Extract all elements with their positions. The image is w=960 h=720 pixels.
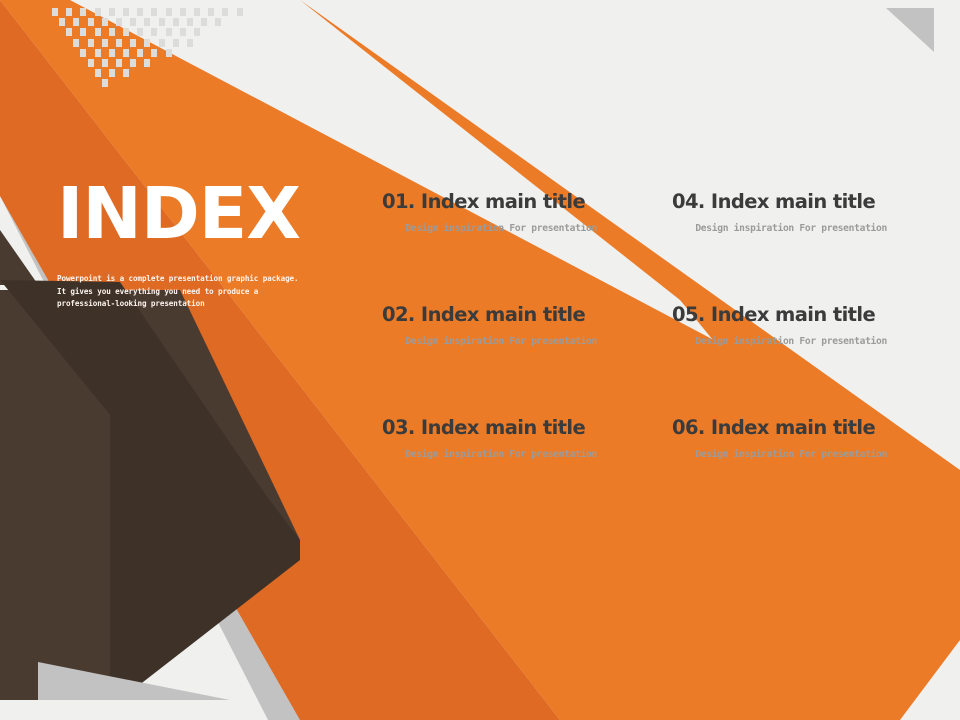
index-item-title: 03. Index main title <box>382 416 672 440</box>
dot-grid-cell <box>130 39 136 47</box>
dot-grid-cell <box>109 49 115 57</box>
index-item-title: 04. Index main title <box>672 190 912 214</box>
index-item-02[interactable]: 02. Index main title Design inspiration … <box>382 303 672 416</box>
dot-grid-cell <box>173 18 179 26</box>
dot-grid-cell <box>137 28 143 36</box>
index-item-01[interactable]: 01. Index main title Design inspiration … <box>382 190 672 303</box>
index-item-subtitle: Design inspiration For presentation <box>382 223 597 235</box>
dot-grid-cell <box>109 8 115 16</box>
dot-grid-cell <box>88 18 94 26</box>
dot-grid-cell <box>208 8 214 16</box>
dot-grid-cell <box>144 39 150 47</box>
dot-grid-cell <box>173 39 179 47</box>
index-item-subtitle: Design inspiration For presentation <box>672 336 887 348</box>
dot-grid-cell <box>166 28 172 36</box>
index-item-05[interactable]: 05. Index main title Design inspiration … <box>672 303 912 416</box>
dot-grid-cell <box>137 8 143 16</box>
index-item-title: 02. Index main title <box>382 303 672 327</box>
dot-grid-cell <box>59 18 65 26</box>
dot-grid-cell <box>66 8 72 16</box>
title-block: INDEX Powerpoint is a complete presentat… <box>57 175 357 311</box>
presentation-slide: INDEX Powerpoint is a complete presentat… <box>0 0 960 720</box>
index-item-subtitle: Design inspiration For presentation <box>382 336 597 348</box>
dot-grid-cell <box>137 49 143 57</box>
dot-grid-cell <box>80 49 86 57</box>
dot-grid-cell <box>116 18 122 26</box>
dot-grid-cell <box>116 59 122 67</box>
dot-grid-cell <box>123 69 129 77</box>
dot-grid-cell <box>109 28 115 36</box>
title-description: Powerpoint is a complete presentation gr… <box>57 273 307 311</box>
dot-grid-cell <box>144 59 150 67</box>
index-item-04[interactable]: 04. Index main title Design inspiration … <box>672 190 912 303</box>
dot-grid-cell <box>102 39 108 47</box>
dot-grid-cell <box>73 39 79 47</box>
index-item-title: 06. Index main title <box>672 416 912 440</box>
brown-bottom-edge <box>0 655 38 700</box>
dot-grid-cell <box>159 39 165 47</box>
dot-grid-cell <box>80 8 86 16</box>
dot-grid-cell <box>116 39 122 47</box>
dot-grid-cell <box>109 69 115 77</box>
index-item-title: 01. Index main title <box>382 190 672 214</box>
index-item-subtitle: Design inspiration For presentation <box>382 449 597 461</box>
dot-grid-cell <box>95 28 101 36</box>
dot-grid-cell <box>201 18 207 26</box>
dot-grid-cell <box>80 28 86 36</box>
dot-grid-cell <box>88 59 94 67</box>
dot-grid-cell <box>222 8 228 16</box>
dot-grid-cell <box>130 18 136 26</box>
dot-grid-cell <box>102 18 108 26</box>
index-item-subtitle: Design inspiration For presentation <box>672 223 887 235</box>
dot-grid-cell <box>95 69 101 77</box>
dot-grid-cell <box>166 8 172 16</box>
dot-grid-cell <box>88 39 94 47</box>
dot-grid-cell <box>52 8 58 16</box>
dot-grid-cell <box>151 8 157 16</box>
dot-grid-cell <box>187 39 193 47</box>
index-item-title: 05. Index main title <box>672 303 912 327</box>
dot-grid-cell <box>237 8 243 16</box>
dot-grid-cell <box>123 49 129 57</box>
dot-grid-cell <box>159 18 165 26</box>
dot-grid-cell <box>66 28 72 36</box>
dot-grid-cell <box>123 28 129 36</box>
page-title: INDEX <box>57 175 357 253</box>
dot-grid-cell <box>73 18 79 26</box>
dot-grid-cell <box>144 18 150 26</box>
dot-grid-cell <box>123 8 129 16</box>
dot-grid-cell <box>194 28 200 36</box>
index-item-subtitle: Design inspiration For presentation <box>672 449 887 461</box>
dot-grid-cell <box>102 79 108 87</box>
dot-grid-cell <box>180 28 186 36</box>
dot-grid-cell <box>194 8 200 16</box>
index-item-grid: 01. Index main title Design inspiration … <box>382 190 912 529</box>
dot-grid-cell <box>215 18 221 26</box>
dot-grid-cell <box>187 18 193 26</box>
dot-grid-cell <box>180 8 186 16</box>
dot-grid-cell <box>151 49 157 57</box>
dot-grid-cell <box>151 28 157 36</box>
index-item-03[interactable]: 03. Index main title Design inspiration … <box>382 416 672 529</box>
dot-grid-cell <box>95 8 101 16</box>
dot-grid-pattern <box>52 8 262 88</box>
dot-grid-cell <box>166 49 172 57</box>
dot-grid-cell <box>102 59 108 67</box>
dot-grid-cell <box>130 59 136 67</box>
index-item-06[interactable]: 06. Index main title Design inspiration … <box>672 416 912 529</box>
dot-grid-cell <box>95 49 101 57</box>
